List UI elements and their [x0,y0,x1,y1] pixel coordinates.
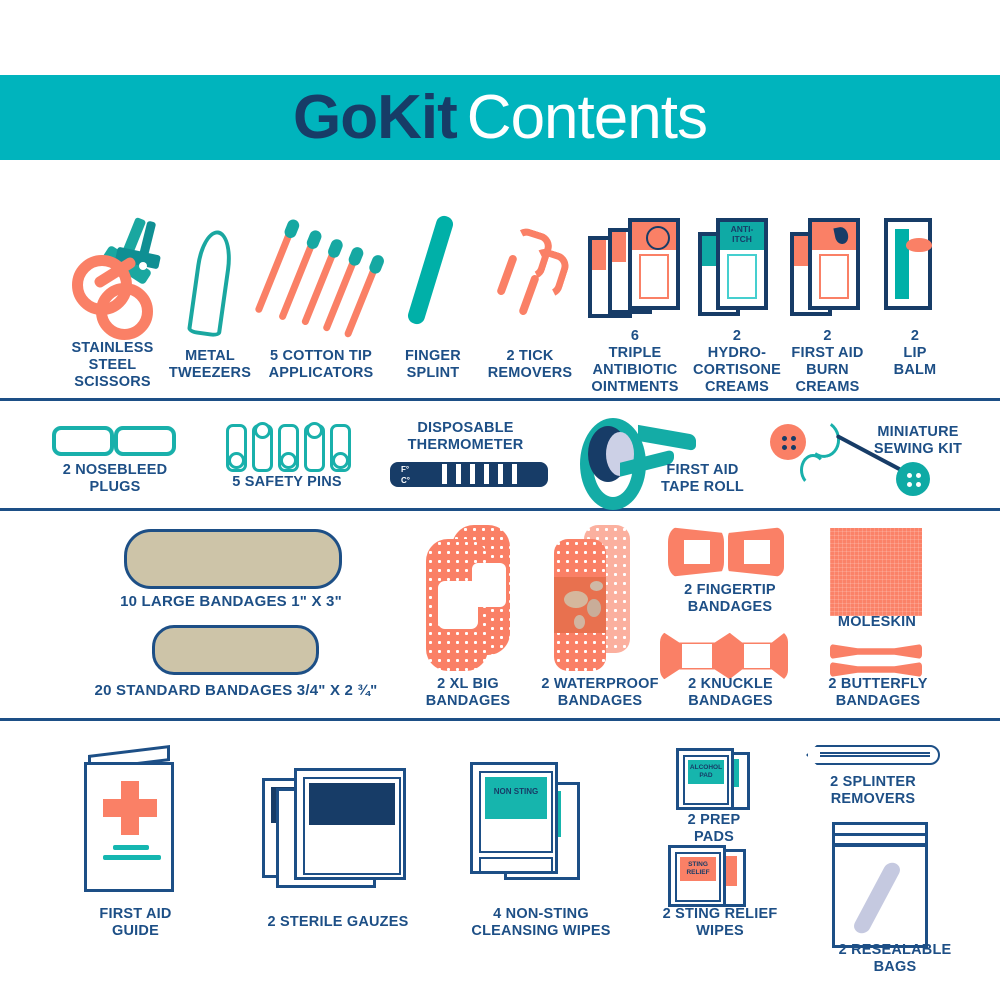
divider-row2 [0,508,1000,511]
label-sterile-gauzes: 2 STERILE GAUZES [248,914,428,931]
label-safety-pins: 5 SAFETY PINS [212,474,362,491]
safety-pins-icon [222,420,352,468]
label-nosebleed-plugs: 2 NOSEBLEED PLUGS [40,462,190,496]
swab-tip-2 [305,228,323,250]
first-aid-guide-icon [84,750,184,895]
button-teal-icon [896,462,930,496]
safety-pin-head-1 [228,452,245,469]
nosebleed-plug-1 [52,426,114,456]
knuckle-pad-2 [744,644,770,668]
button-teal-hole-3 [907,482,912,487]
wipe-inner-front: NON STING [479,771,553,853]
flame-icon [833,226,849,245]
sachet-top-hydro-back [702,236,716,266]
tape-strip [638,425,696,451]
safety-pin-head-3 [280,452,297,469]
thermometer-scale-c: C° [401,476,410,485]
label-non-sting-cleansing-wipes: 4 NON-STING CLEANSING WIPES [456,906,626,940]
label-miniature-sewing-kit: MINIATURE SEWING KIT [848,424,988,458]
sting-header-front: STING RELIEF [680,857,716,881]
balm-stick [895,229,909,299]
swab-tip-5 [367,253,385,275]
label-butterfly-bandages: 2 BUTTERFLY BANDAGES [808,676,948,710]
alcohol-pad-packet-text: ALCOHOL PAD [688,764,724,779]
label-first-aid-tape-roll: FIRST AID TAPE ROLL [640,462,765,496]
wipe-footer-front [479,857,553,873]
fingertip-pad-2 [744,540,770,564]
label-metal-tweezers: METAL TWEEZERS [155,348,265,382]
bag-body [832,822,928,948]
splinter-tool-2 [820,752,930,757]
burn-sachet-front [808,218,860,310]
sachet-top-hydro-front: ANTI- ITCH [720,222,764,250]
scissors-pivot [139,262,147,270]
nosebleed-plug-2 [114,426,176,456]
sachet-top-front [632,222,676,250]
label-triple-antibiotic-ointments: 6 TRIPLE ANTIBIOTIC OINTMENTS [575,328,695,396]
splinter-removers-icon [806,742,946,772]
burn-cream-sachets-icon [790,218,870,323]
thermometer-tick-4 [484,464,489,484]
sachet-inner-front [639,254,669,299]
label-large-bandages: 10 LARGE BANDAGES 1" x 3" [100,593,362,610]
lip-balm-icon [884,218,944,323]
non-sting-packet-text: NON STING [485,787,547,796]
sterile-gauze-icon [262,760,412,895]
sachet-top-burn-back [794,236,808,266]
scissors-ring-lower [96,283,153,340]
swab-tip-1 [282,218,300,240]
bag-zip-line-2 [835,843,925,847]
label-tick-removers: 2 TICK REMOVERS [480,348,580,382]
bag-highlight [851,860,903,935]
label-fingertip-bandages: 2 FINGERTIP BANDAGES [660,582,800,616]
tweezers-arms [187,228,235,338]
sachet-top-burn-front [812,222,856,250]
label-cotton-tip-applicators: 5 COTTON TIP APPLICATORS [255,348,387,382]
ointment-sachet-front [628,218,680,310]
sting-relief-packet-text: STING RELIEF [680,861,716,876]
prep-inner-front: ALCOHOL PAD [683,755,729,805]
label-lip-balm: 2 LIP BALM [875,328,955,379]
swab-tip-4 [346,245,364,267]
thermometer-tick-6 [512,464,517,484]
guide-line-1 [113,845,149,850]
fingertip-pad-1 [684,540,710,564]
sachet-inner-burn [819,254,849,299]
gauze-header-front [309,783,395,825]
header-band: GoKitContents [0,75,1000,160]
sachet-inner-hydro [727,254,757,299]
finger-splint-icon [400,212,470,327]
hydro-sachet-front: ANTI- ITCH [716,218,768,310]
knuckle-pad-1 [682,644,712,668]
scissors-icon [68,215,178,330]
label-first-aid-guide: FIRST AID GUIDE [78,906,193,940]
button-hole-2 [791,436,796,441]
swab-tip-3 [326,237,344,259]
thermometer-tick-5 [498,464,503,484]
button-hole-1 [782,436,787,441]
tweezers-icon [182,230,242,330]
thermometer-scale-f: F° [401,465,409,474]
thermometer-tick-2 [456,464,461,484]
wipe-header-front: NON STING [485,777,547,819]
nosebleed-plugs-icon [52,424,172,454]
label-knuckle-bandages: 2 KNUCKLE BANDAGES [658,676,803,710]
button-hole-3 [782,445,787,450]
safety-pin-head-2 [254,422,271,439]
moleskin-icon [830,528,922,616]
label-prep-pads: 2 PREP PADS [654,812,774,846]
divider-row3 [0,718,1000,721]
gauze-inner-front [303,777,401,875]
standard-bandage-icon [152,625,319,675]
water-droplet-1 [564,591,588,608]
safety-pin-head-4 [306,422,323,439]
page-title: GoKitContents [293,87,707,149]
page-title-suffix: Contents [467,83,707,152]
cross-icon-horizontal [103,799,157,817]
ointment-badge-icon [646,226,670,250]
label-xl-big-bandages: 2 XL BIG BANDAGES [408,676,528,710]
button-teal-hole-1 [907,473,912,478]
water-droplet-3 [587,599,601,617]
thermometer-tick-3 [470,464,475,484]
label-moleskin: MOLESKIN [812,614,942,631]
tick-hook-1-stem [496,254,518,296]
butterfly-strip-2 [830,662,922,677]
thermometer-tick-1 [442,464,447,484]
label-splinter-removers: 2 SPLINTER REMOVERS [798,774,948,808]
tick-hook-2-stem [518,274,540,316]
button-hole-4 [791,445,796,450]
tick-removers-icon [495,228,565,320]
waterproof-bandage-icon [546,525,656,670]
label-resealable-bags: 2 RESEALABLE BAGS [820,942,970,976]
safety-pin-head-5 [332,452,349,469]
water-droplet-2 [590,581,603,591]
sachet-top-mid [612,232,626,262]
butterfly-bandage-icon [830,644,930,680]
label-standard-bandages: 20 STANDARD BANDAGES 3/4" x 2 ¾" [86,682,386,699]
hydro-packet-text: ANTI- ITCH [720,225,764,244]
lip-balm-packet [884,218,932,310]
label-disposable-thermometer: DISPOSABLE THERMOMETER [378,420,553,454]
butterfly-strip-1 [830,644,922,659]
prep-pads-icon: ALCOHOL PAD [676,748,776,820]
sting-relief-front: STING RELIEF [668,845,726,907]
thermometer-icon: F° C° [390,458,550,490]
button-teal-hole-2 [916,473,921,478]
divider-row1 [0,398,1000,401]
sachet-top-back [592,240,606,270]
large-bandage-icon [124,529,342,589]
xl-bandage-icon [420,525,530,670]
prep-header-front: ALCOHOL PAD [688,760,724,784]
bag-zip-line-1 [835,833,925,836]
cleansing-wipes-icon: NON STING [470,760,610,900]
prep-pad-front: ALCOHOL PAD [676,748,734,810]
label-sting-relief-wipes: 2 STING RELIEF WIPES [640,906,800,940]
cotton-swabs-icon [262,212,382,332]
label-waterproof-bandages: 2 WATERPROOF BANDAGES [520,676,680,710]
thread-loop-2 [800,454,826,486]
wipe-packet-front: NON STING [470,762,558,874]
resealable-bag-icon [832,822,932,952]
ointment-sachets-icon [588,218,683,323]
water-droplet-4 [574,615,585,629]
page-title-brand: GoKit [293,83,457,152]
hydrocortisone-sachets-icon: ANTI- ITCH [698,218,778,323]
fingertip-bandage-icon [668,527,788,579]
guide-cover [84,762,174,892]
button-coral-icon [770,424,806,460]
guide-line-2 [103,855,161,860]
lips-icon [906,238,932,252]
thermometer-body [390,462,548,487]
label-first-aid-burn-creams: 2 FIRST AID BURN CREAMS [775,328,880,396]
splint-bar [406,214,455,326]
sting-inner-front: STING RELIEF [675,852,721,902]
label-finger-splint: FINGER SPLINT [383,348,483,382]
xl-bandage-pad-back [472,563,506,607]
button-teal-hole-4 [916,482,921,487]
gauze-packet-front [294,768,406,880]
